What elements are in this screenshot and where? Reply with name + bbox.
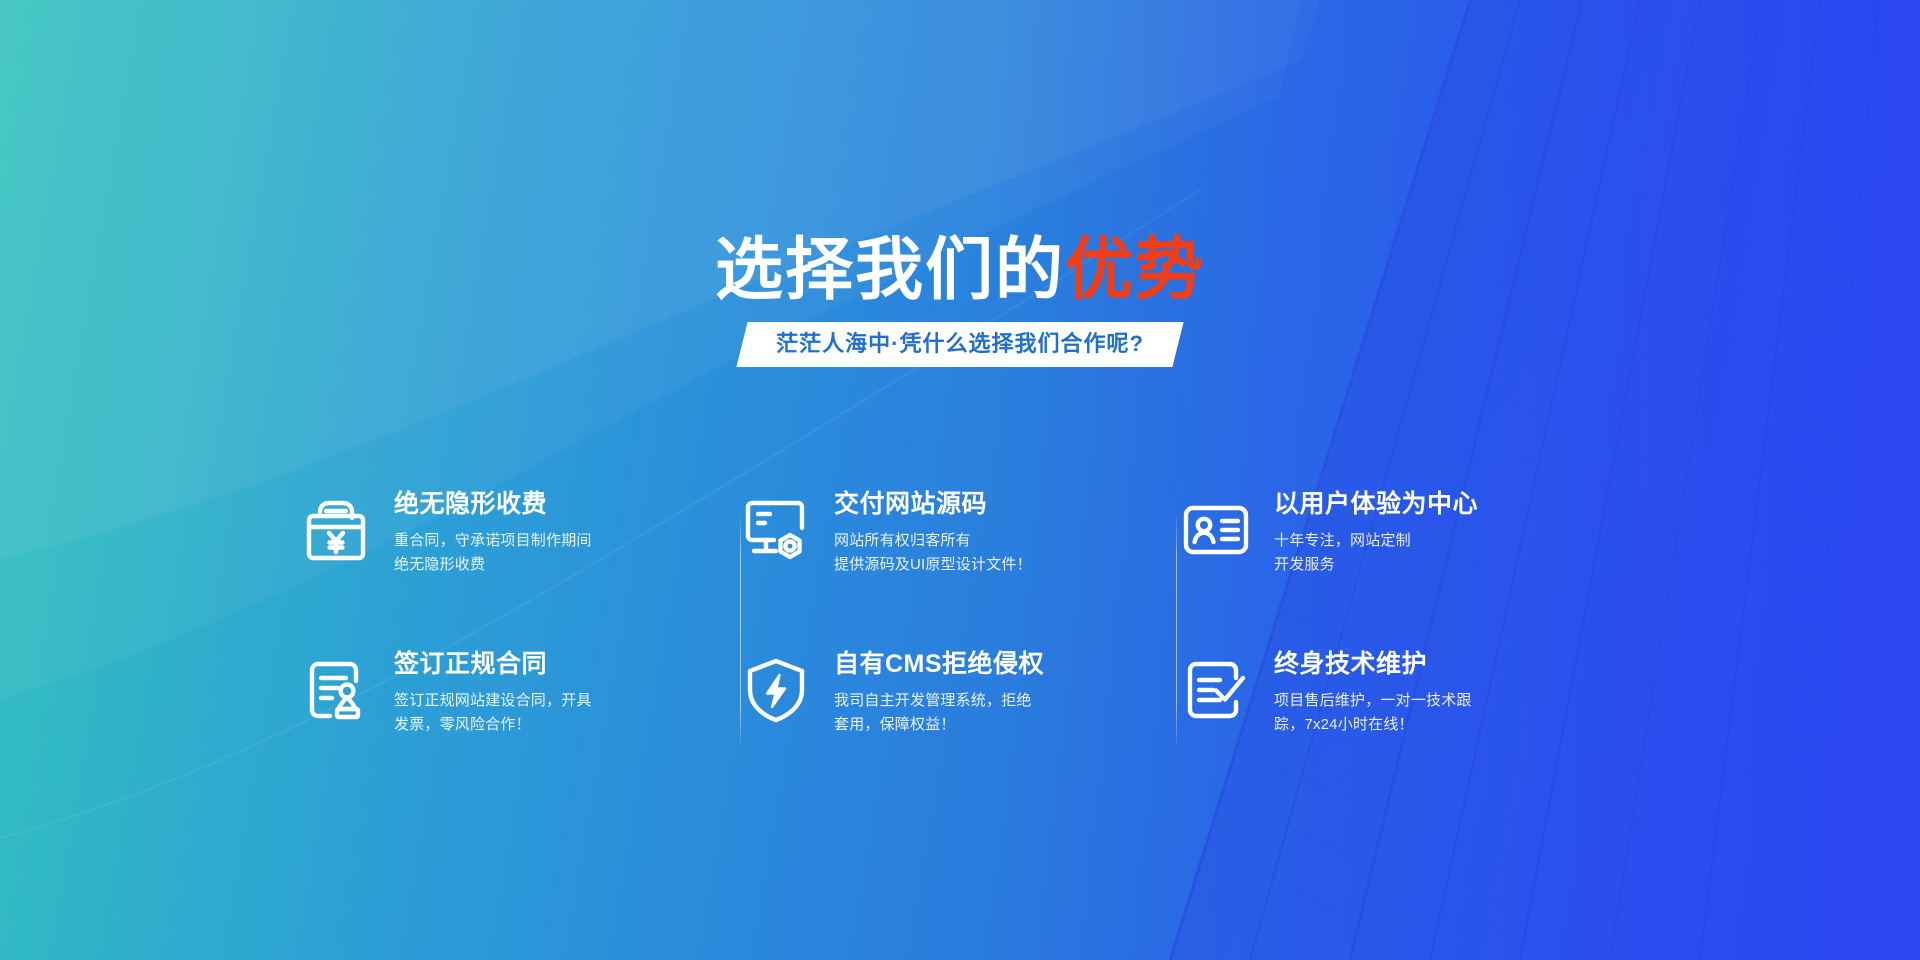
subtitle-banner-wrap: 茫茫人海中·凭什么选择我们合作呢? bbox=[0, 322, 1920, 367]
feature-desc-line-2: 发票，零风险合作！ bbox=[394, 713, 592, 737]
contract-stamp-icon bbox=[300, 654, 372, 726]
page-title-plain: 选择我们的 bbox=[715, 232, 1065, 308]
briefcase-yen-icon bbox=[300, 494, 372, 566]
feature-desc-line-2: 开发服务 bbox=[1274, 553, 1478, 577]
advantages-banner: 选择我们的优势 茫茫人海中·凭什么选择我们合作呢? bbox=[0, 0, 1920, 960]
feature-title: 签订正规合同 bbox=[394, 652, 592, 677]
feature-title: 交付网站源码 bbox=[834, 492, 1032, 517]
feature-item-no-hidden-fees[interactable]: 绝无隐形收费 重合同，守承诺项目制作期间 绝无隐形收费 bbox=[300, 490, 740, 650]
id-card-icon bbox=[1180, 494, 1252, 566]
feature-item-own-cms[interactable]: 自有CMS拒绝侵权 我司自主开发管理系统，拒绝 套用，保障权益！ bbox=[740, 650, 1180, 810]
feature-text: 自有CMS拒绝侵权 我司自主开发管理系统，拒绝 套用，保障权益！ bbox=[834, 650, 1044, 738]
page-title: 选择我们的优势 bbox=[0, 236, 1920, 304]
feature-desc-line-2: 绝无隐形收费 bbox=[394, 553, 592, 577]
checklist-icon bbox=[1180, 654, 1252, 726]
feature-title: 终身技术维护 bbox=[1274, 652, 1472, 677]
skyscraper-photo-overlay bbox=[1000, 0, 1920, 960]
feature-desc-line-1: 项目售后维护，一对一技术跟 bbox=[1274, 689, 1472, 713]
subtitle-banner: 茫茫人海中·凭什么选择我们合作呢? bbox=[736, 322, 1183, 367]
feature-text: 签订正规合同 签订正规网站建设合同，开具 发票，零风险合作！ bbox=[394, 650, 592, 738]
feature-title: 自有CMS拒绝侵权 bbox=[834, 652, 1044, 677]
feature-item-lifetime-maintenance[interactable]: 终身技术维护 项目售后维护，一对一技术跟 踪，7x24小时在线！ bbox=[1180, 650, 1620, 810]
feature-desc-line-2: 提供源码及UI原型设计文件！ bbox=[834, 553, 1032, 577]
feature-item-source-code-delivery[interactable]: 交付网站源码 网站所有权归客所有 提供源码及UI原型设计文件！ bbox=[740, 490, 1180, 650]
feature-desc-line-2: 踪，7x24小时在线！ bbox=[1274, 713, 1472, 737]
feature-item-user-experience[interactable]: 以用户体验为中心 十年专注，网站定制 开发服务 bbox=[1180, 490, 1620, 650]
feature-desc-line-2: 套用，保障权益！ bbox=[834, 713, 1044, 737]
feature-desc-line-1: 十年专注，网站定制 bbox=[1274, 529, 1478, 553]
feature-description: 签订正规网站建设合同，开具 发票，零风险合作！ bbox=[394, 689, 592, 738]
background-wave-decoration bbox=[0, 0, 1920, 960]
feature-item-formal-contract[interactable]: 签订正规合同 签订正规网站建设合同，开具 发票，零风险合作！ bbox=[300, 650, 740, 810]
feature-text: 绝无隐形收费 重合同，守承诺项目制作期间 绝无隐形收费 bbox=[394, 490, 592, 578]
heading-block: 选择我们的优势 茫茫人海中·凭什么选择我们合作呢? bbox=[0, 236, 1920, 367]
feature-desc-line-1: 我司自主开发管理系统，拒绝 bbox=[834, 689, 1044, 713]
page-title-accent: 优势 bbox=[1065, 232, 1205, 308]
feature-desc-line-1: 重合同，守承诺项目制作期间 bbox=[394, 529, 592, 553]
monitor-gear-icon bbox=[740, 494, 812, 566]
feature-desc-line-1: 签订正规网站建设合同，开具 bbox=[394, 689, 592, 713]
feature-title: 绝无隐形收费 bbox=[394, 492, 592, 517]
feature-title: 以用户体验为中心 bbox=[1274, 492, 1478, 517]
shield-bolt-icon bbox=[740, 654, 812, 726]
subtitle-text: 茫茫人海中·凭什么选择我们合作呢? bbox=[776, 333, 1144, 355]
feature-text: 终身技术维护 项目售后维护，一对一技术跟 踪，7x24小时在线！ bbox=[1274, 650, 1472, 738]
feature-description: 网站所有权归客所有 提供源码及UI原型设计文件！ bbox=[834, 529, 1032, 578]
feature-grid: 绝无隐形收费 重合同，守承诺项目制作期间 绝无隐形收费 bbox=[300, 490, 1620, 810]
feature-description: 项目售后维护，一对一技术跟 踪，7x24小时在线！ bbox=[1274, 689, 1472, 738]
feature-description: 我司自主开发管理系统，拒绝 套用，保障权益！ bbox=[834, 689, 1044, 738]
feature-description: 十年专注，网站定制 开发服务 bbox=[1274, 529, 1478, 578]
feature-desc-line-1: 网站所有权归客所有 bbox=[834, 529, 1032, 553]
feature-text: 以用户体验为中心 十年专注，网站定制 开发服务 bbox=[1274, 490, 1478, 578]
feature-description: 重合同，守承诺项目制作期间 绝无隐形收费 bbox=[394, 529, 592, 578]
feature-text: 交付网站源码 网站所有权归客所有 提供源码及UI原型设计文件！ bbox=[834, 490, 1032, 578]
